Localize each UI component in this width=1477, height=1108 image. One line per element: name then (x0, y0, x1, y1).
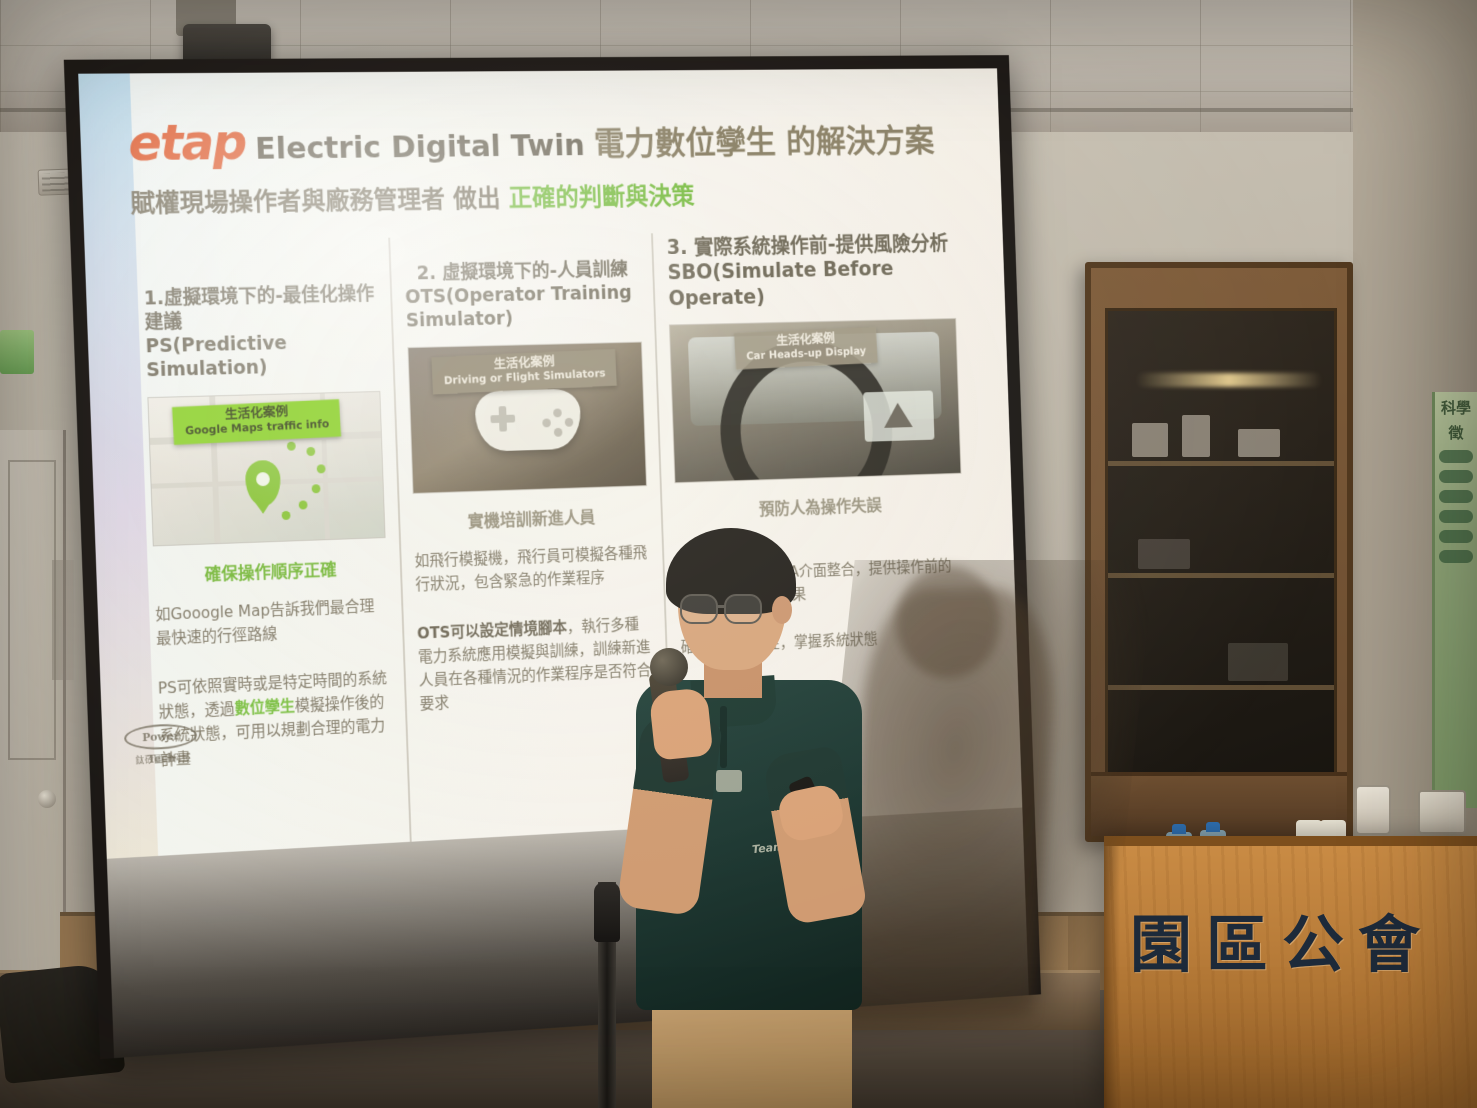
cabinet-item (1238, 429, 1280, 457)
cabinet-item (1138, 539, 1190, 569)
exit-sign (0, 330, 34, 374)
column2-heading: 2. 虛擬環境下的-人員訓練 OTS(Operator Training Sim… (404, 259, 642, 334)
cabinet-shelf (1108, 685, 1334, 690)
column3-badge: 生活化案例 Car Heads-up Display (734, 327, 877, 369)
powertech-logo-name: Power Tech (124, 723, 198, 751)
column1-paragraph-1: 如Gooogle Map告訴我們最合理最快速的行徑路線 (155, 594, 389, 651)
presenter-ear (772, 596, 792, 624)
presenter: Teamwork (600, 520, 960, 1108)
gamepad-button (542, 418, 551, 427)
powertech-logo-cn: 鈦矽國際科技 (125, 750, 202, 767)
map-route-dot (287, 441, 296, 450)
poster-chip (1439, 530, 1473, 543)
column3-heading-line2: SBO(Simulate Before Operate) (667, 255, 956, 311)
column2-image: 生活化案例 Driving or Flight Simulators (407, 341, 647, 493)
column3-heading: 3. 實際系統操作前-提供風險分析 SBO(Simulate Before Op… (666, 230, 955, 311)
poster-title: 科學 (1435, 392, 1477, 417)
left-door[interactable] (0, 430, 66, 990)
map-route-dot (317, 464, 326, 473)
cabinet-shelf (1108, 573, 1334, 578)
gamepad-button (565, 418, 574, 427)
poster-chip (1439, 490, 1473, 503)
gamepad-button (554, 428, 563, 437)
glasses-right-lens-icon (724, 594, 762, 624)
glasses-left-lens-icon (680, 594, 718, 624)
poster-chip (1439, 550, 1473, 563)
map-route-dot (299, 500, 308, 509)
slide-header: etap Electric Digital Twin 電力數位孿生 的解決方案 (128, 114, 978, 170)
poster-chip (1439, 470, 1473, 483)
column3-badge-en: Car Heads-up Display (746, 346, 866, 364)
column2-para2-emphasis: OTS可以設定情境腳本 (417, 619, 567, 643)
etap-logo: etap (128, 120, 247, 166)
poster-chip (1439, 510, 1473, 523)
map-route-dot (282, 511, 291, 520)
slide-subline: 賦權現場操作者與廠務管理者 做出 正確的判斷與決策 (130, 173, 979, 220)
hud-overlay (863, 391, 934, 442)
column1-para2-emphasis: 數位孿生 (234, 697, 295, 718)
presenter-right-hand (649, 687, 714, 761)
display-cabinet (1085, 262, 1353, 842)
gamepad-icon (474, 388, 581, 451)
column1-heading-line2: PS(Predictive Simulation) (145, 330, 379, 383)
cabinet-glass-door[interactable] (1105, 308, 1337, 778)
glasses-bridge (717, 605, 726, 608)
cabinet-shelf (1108, 461, 1334, 466)
cabinet-item (1132, 423, 1168, 457)
cabinet-item (1228, 643, 1288, 681)
gamepad-button (553, 408, 562, 417)
event-poster: 科學 徵 (1432, 392, 1477, 808)
bottle-cap (1206, 822, 1220, 832)
column1-heading-line1: 1.虛擬環境下的-最佳化操作建議 (143, 283, 377, 335)
bottle-cap (1172, 824, 1186, 834)
cabinet-item (1182, 415, 1210, 457)
dpad-vertical (499, 406, 507, 432)
column1-heading: 1.虛擬環境下的-最佳化操作建議 PS(Predictive Simulatio… (143, 283, 379, 383)
poster-chip (1439, 450, 1473, 463)
map-route-dot (306, 447, 315, 456)
wall-intercom[interactable] (1355, 785, 1391, 835)
lecture-room-scene: 科學 徵 園區公會 etap Electric Di (0, 0, 1477, 1108)
podium: 園區公會 (1104, 836, 1477, 1108)
column3-subtitle: 預防人為操作失誤 (675, 489, 962, 523)
wall-control-panel[interactable] (1418, 790, 1466, 834)
slide-subline-highlight: 正確的判斷與決策 (508, 182, 695, 213)
cabinet-light (1136, 373, 1322, 387)
door-knob[interactable] (38, 790, 56, 808)
column1-image: 生活化案例 Google Maps traffic info (147, 391, 385, 546)
column2-heading-line2: OTS(Operator Training Simulator) (405, 282, 642, 334)
slide-tagline-en: Electric Digital Twin (255, 128, 586, 167)
poster-subtitle: 徵 (1435, 417, 1477, 442)
presenter-chest-logo (716, 770, 742, 792)
wall-post (52, 560, 74, 680)
slide-subline-prefix: 賦權現場操作者與廠務管理者 做出 (130, 184, 509, 218)
column1-subtitle: 確保操作順序正確 (153, 553, 386, 587)
powertech-watermark: Power Tech 鈦矽國際科技 (124, 722, 202, 771)
slide-tagline-cn: 電力數位孿生 的解決方案 (593, 115, 935, 164)
hud-arrow-icon (883, 403, 912, 428)
door-panel (8, 460, 56, 760)
map-route-dot (312, 484, 321, 493)
venue-sign-text: 園區公會 (1130, 894, 1434, 984)
podium-edge (1104, 846, 1120, 1108)
column3-image: 生活化案例 Car Heads-up Display (669, 318, 961, 483)
map-pin-tip (252, 497, 274, 514)
